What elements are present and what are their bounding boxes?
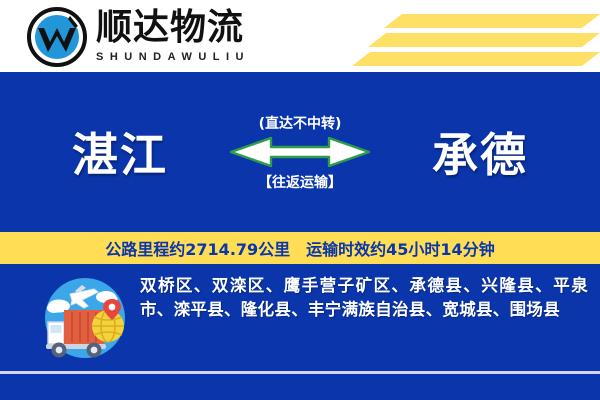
destination-city: 承德 bbox=[390, 119, 570, 185]
coverage-districts-text: 双桥区、双滦区、鹰手营子矿区、承德县、兴隆县、平泉市、滦平县、隆化县、丰宁满族自… bbox=[140, 274, 588, 322]
circle-w-logo-icon bbox=[26, 6, 88, 68]
yellow-stripes-icon bbox=[340, 8, 600, 70]
coverage-panel: 双桥区、双滦区、鹰手营子矿区、承德县、兴隆县、平泉市、滦平县、隆化县、丰宁满族自… bbox=[0, 264, 600, 371]
footer-band bbox=[0, 374, 600, 400]
double-headed-arrow-icon bbox=[225, 135, 375, 169]
route-arrow-group: (直达不中转) 【往返运输】 bbox=[210, 113, 390, 192]
brand-wordmark: 顺达物流 SHUNDAWULIU bbox=[96, 6, 250, 63]
brand-logo: 顺达物流 SHUNDAWULIU bbox=[26, 6, 250, 68]
origin-city: 湛江 bbox=[30, 119, 210, 185]
header: 顺达物流 SHUNDAWULIU bbox=[0, 0, 600, 72]
brand-name-en: SHUNDAWULIU bbox=[96, 51, 250, 63]
direct-route-note: (直达不中转) bbox=[259, 113, 342, 133]
route-panel: 湛江 (直达不中转) 【往返运输】 承德 bbox=[0, 72, 600, 232]
logistics-route-poster: 顺达物流 SHUNDAWULIU 湛江 (直达不中转) 【 bbox=[0, 0, 600, 400]
distance-duration-text: 公路里程约2714.79公里 运输时效约45小时14分钟 bbox=[105, 236, 494, 260]
distance-duration-bar: 公路里程约2714.79公里 运输时效约45小时14分钟 bbox=[0, 232, 600, 264]
round-trip-note: 【往返运输】 bbox=[258, 172, 342, 192]
brand-name-cn: 顺达物流 bbox=[96, 6, 250, 50]
truck-plane-globe-icon bbox=[38, 276, 133, 361]
route-row: 湛江 (直达不中转) 【往返运输】 承德 bbox=[0, 72, 600, 232]
